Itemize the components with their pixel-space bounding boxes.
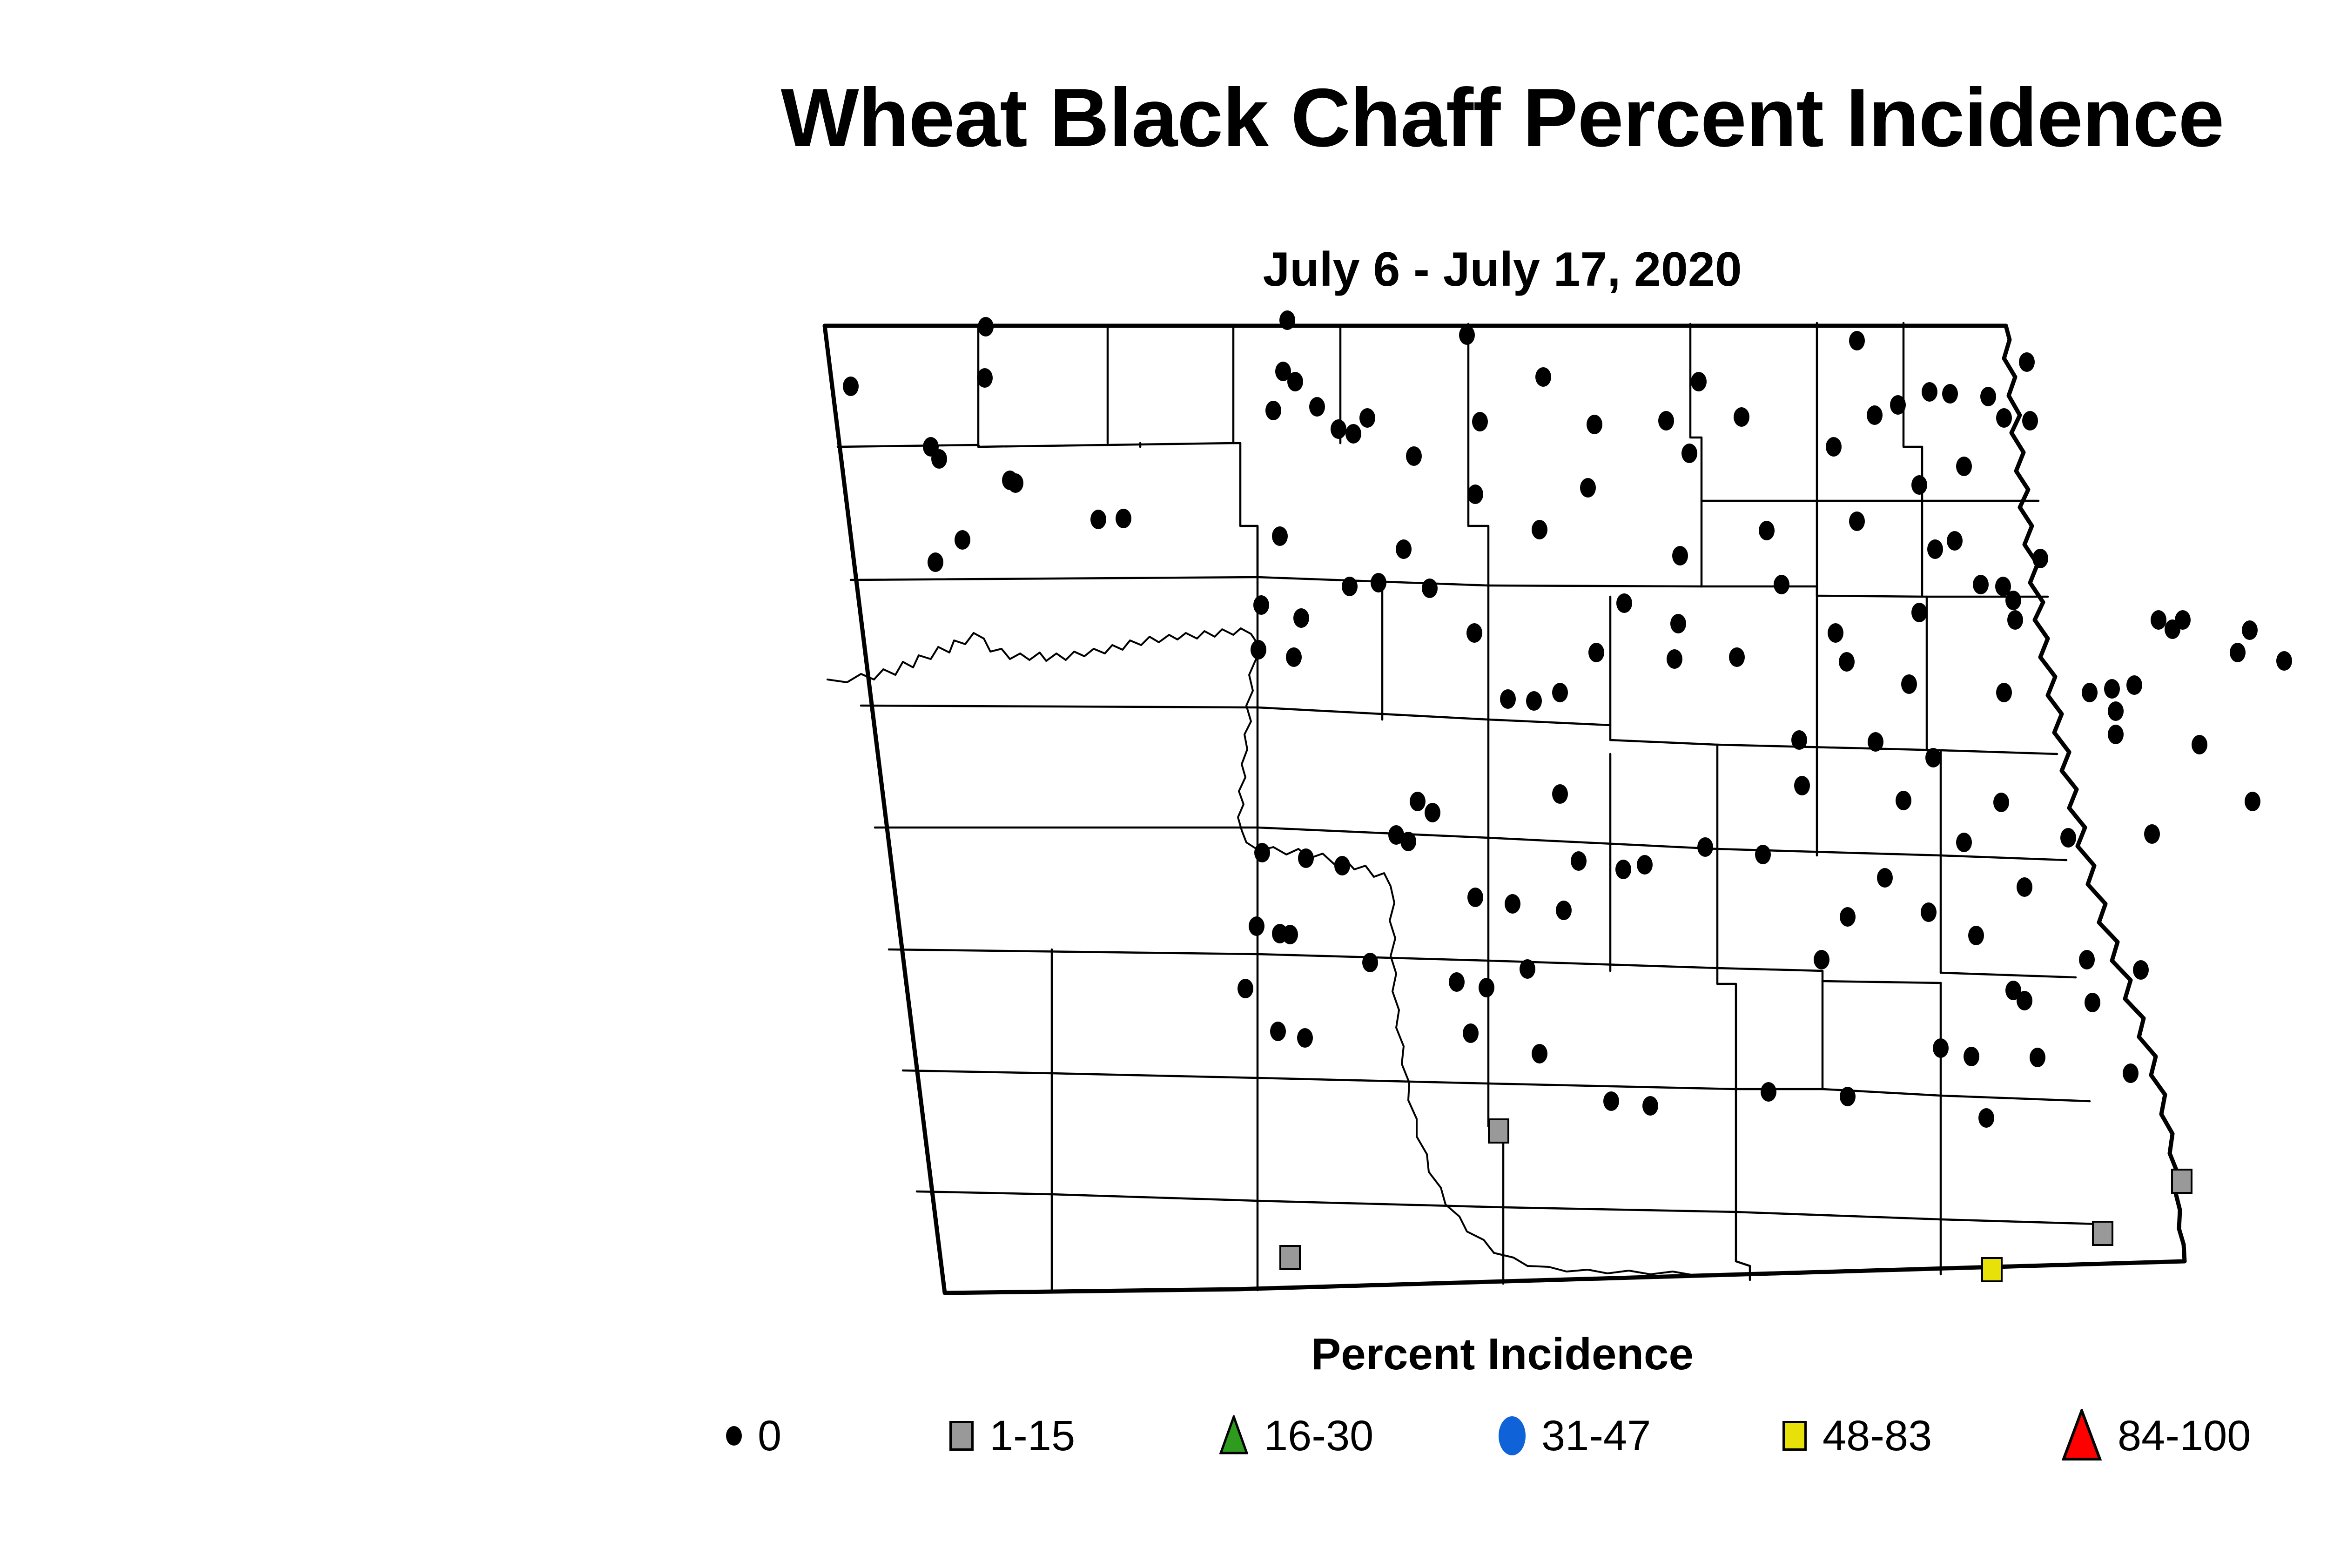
- map-marker: [1849, 331, 1865, 350]
- map-marker: [1251, 640, 1266, 660]
- map-svg: [661, 307, 2327, 1312]
- map-marker: [1755, 845, 1771, 864]
- map-marker: [2085, 993, 2100, 1012]
- missouri-river-and-lake-sakakawea: [827, 628, 1694, 1275]
- map-marker: [2082, 683, 2098, 702]
- map-marker: [2230, 643, 2246, 662]
- gray-square-icon: [949, 1421, 974, 1451]
- map-marker: [2017, 991, 2032, 1010]
- map-marker: [1532, 1044, 1547, 1063]
- map-marker: [1342, 577, 1358, 596]
- map-marker: [1466, 623, 1482, 643]
- map-marker: [1947, 531, 1963, 551]
- legend-label-5: 84-100: [2118, 1414, 2251, 1457]
- map-marker: [931, 449, 947, 469]
- map-marker: [1933, 1038, 1949, 1058]
- page-title: Wheat Black Chaff Percent Incidence: [0, 70, 2327, 165]
- map-marker: [2030, 1048, 2045, 1067]
- map-marker: [2060, 828, 2076, 848]
- map-marker: [1791, 730, 1807, 750]
- map-marker: [1282, 925, 1298, 944]
- map-marker: [1406, 446, 1422, 466]
- map-marker: [1982, 1258, 2002, 1281]
- map-marker: [1973, 575, 1989, 594]
- map-marker: [2276, 651, 2292, 671]
- map-marker: [1090, 510, 1106, 529]
- map-marker: [2079, 950, 2095, 969]
- map-marker: [1868, 732, 1883, 752]
- red-triangle-icon: [2062, 1409, 2102, 1463]
- map-marker: [1867, 405, 1883, 425]
- legend-label-1: 1-15: [989, 1414, 1075, 1457]
- map-marker: [1672, 546, 1688, 565]
- map-marker: [1840, 1087, 1856, 1106]
- map-marker: [1911, 603, 1927, 622]
- map-marker: [1890, 395, 1906, 415]
- map-marker: [1774, 575, 1789, 594]
- map-marker: [1642, 1096, 1658, 1116]
- map-marker: [1840, 907, 1856, 927]
- map-marker: [1116, 509, 1131, 528]
- map-marker: [2192, 735, 2207, 754]
- map-marker: [1472, 412, 1488, 431]
- legend-label-2: 16-30: [1264, 1414, 1373, 1457]
- map-marker: [1463, 1023, 1479, 1043]
- map-marker: [1839, 652, 1855, 672]
- map-marker: [1253, 595, 1269, 615]
- map-marker: [1535, 367, 1551, 387]
- map-marker: [1359, 408, 1375, 428]
- map-marker: [1921, 902, 1937, 922]
- map-marker: [2151, 610, 2166, 630]
- map-marker: [1691, 372, 1707, 391]
- map-marker: [1901, 674, 1917, 694]
- map-marker: [1658, 411, 1674, 431]
- map-marker: [1761, 1082, 1776, 1102]
- black-dot-icon: [726, 1426, 742, 1446]
- map-marker: [843, 377, 859, 396]
- county-boundaries: [838, 323, 2099, 1291]
- map-marker: [1942, 384, 1958, 404]
- map-marker: [2165, 619, 2180, 639]
- map-marker: [1922, 382, 1937, 402]
- map-marker: [1249, 916, 1264, 936]
- map-marker: [1272, 526, 1288, 546]
- legend-item-4[interactable]: 48-83: [1782, 1403, 1932, 1468]
- map-marker: [1410, 792, 1426, 811]
- blue-circle-icon: [1499, 1416, 1526, 1455]
- map-marker: [1603, 1091, 1619, 1111]
- map-marker: [1615, 860, 1631, 879]
- map-marker: [1505, 894, 1520, 914]
- map-marker: [2123, 1063, 2139, 1083]
- map-marker: [1371, 573, 1386, 592]
- legend-label-4: 48-83: [1823, 1414, 1932, 1457]
- legend-label-0: 0: [758, 1414, 781, 1457]
- map-marker: [1500, 689, 1516, 709]
- map-marker: [1298, 848, 1314, 868]
- map-marker: [1265, 401, 1281, 420]
- map-marker: [1362, 953, 1378, 972]
- map-marker: [978, 317, 994, 336]
- map-marker: [2005, 591, 2021, 610]
- map-marker: [2007, 610, 2023, 630]
- map-marker: [1964, 1047, 1979, 1066]
- map-marker: [1270, 1022, 1286, 1041]
- map-marker: [1734, 407, 1749, 427]
- map-marker: [1396, 539, 1412, 559]
- yellow-square-icon: [1782, 1421, 1807, 1451]
- map-marker: [1279, 310, 1295, 330]
- map-marker: [2104, 679, 2120, 699]
- map-marker: [1489, 1119, 1508, 1143]
- map-marker: [2093, 1222, 2112, 1245]
- map-marker: [1794, 776, 1810, 795]
- map-marker: [2245, 792, 2260, 811]
- map-marker: [1588, 643, 1604, 662]
- map-marker: [1526, 691, 1542, 711]
- map-marker: [1400, 832, 1416, 851]
- map-marker: [928, 552, 943, 572]
- map-marker: [1877, 868, 1893, 888]
- map-marker: [1334, 856, 1350, 875]
- map-marker: [1993, 793, 2009, 812]
- map-marker: [1520, 959, 1535, 979]
- map-marker: [2108, 701, 2124, 721]
- map-marker: [1331, 419, 1346, 439]
- map-marker: [1980, 387, 1996, 406]
- map-marker: [1667, 649, 1682, 669]
- map-marker: [1896, 791, 1911, 810]
- map-marker: [1293, 608, 1309, 628]
- map-marker: [955, 530, 970, 550]
- map-marker: [1697, 837, 1713, 857]
- map-marker: [1287, 372, 1303, 391]
- map-marker: [1814, 950, 1829, 969]
- map-marker: [1956, 833, 1972, 852]
- map-marker: [1254, 843, 1270, 862]
- map-marker: [1459, 325, 1475, 345]
- map-marker: [977, 368, 993, 388]
- map-marker: [1552, 784, 1568, 804]
- map-marker: [1968, 926, 1984, 945]
- map-marker: [1996, 408, 2012, 428]
- map-marker: [1479, 978, 1494, 997]
- legend: 0 1-15 16-30 31-47 48-83 84-100: [726, 1403, 2327, 1473]
- map-marker: [1996, 683, 2012, 702]
- map-marker: [2019, 352, 2035, 372]
- map-marker: [1759, 521, 1775, 540]
- map-marker: [1978, 1108, 1994, 1128]
- map-marker: [1670, 614, 1686, 633]
- map-marker: [1927, 539, 1943, 559]
- map-marker: [2032, 549, 2048, 568]
- page-subtitle: July 6 - July 17, 2020: [0, 242, 2327, 297]
- green-triangle-icon: [1219, 1415, 1248, 1457]
- map-marker: [1309, 397, 1325, 417]
- map-marker: [1826, 437, 1842, 457]
- map-marker: [1552, 683, 1568, 702]
- map-marker: [2133, 960, 2149, 980]
- map-marker: [1467, 485, 1483, 504]
- map-marker: [1571, 851, 1587, 871]
- map-marker: [2022, 411, 2038, 431]
- map-marker: [2108, 725, 2124, 744]
- legend-item-1[interactable]: 1-15: [949, 1403, 1075, 1468]
- map-marker: [1828, 623, 1843, 643]
- map-marker: [1616, 593, 1632, 613]
- map-marker: [1911, 475, 1927, 495]
- map-marker: [2126, 675, 2142, 695]
- map-marker: [2172, 1170, 2192, 1193]
- legend-item-0[interactable]: 0: [726, 1403, 781, 1468]
- state-outline: [825, 326, 2185, 1293]
- map-marker: [1925, 748, 1941, 767]
- map-marker: [2242, 620, 2258, 640]
- map-marker: [2144, 824, 2160, 844]
- map-marker: [1587, 415, 1602, 434]
- map-marker: [1008, 473, 1023, 493]
- map-marker: [1345, 424, 1361, 444]
- map-marker: [1280, 1246, 1300, 1269]
- map-marker: [1556, 901, 1572, 920]
- north-dakota-map[interactable]: [661, 307, 2327, 1312]
- map-marker: [1956, 457, 1972, 476]
- legend-item-5[interactable]: 84-100: [2062, 1403, 2251, 1468]
- legend-title: Percent Incidence: [0, 1329, 2327, 1380]
- map-marker: [1729, 647, 1745, 667]
- map-marker: [1297, 1028, 1313, 1048]
- map-marker: [1532, 520, 1547, 539]
- map-marker: [1580, 478, 1596, 498]
- map-marker: [1849, 511, 1865, 531]
- map-marker: [1637, 855, 1653, 875]
- legend-label-3: 31-47: [1541, 1414, 1651, 1457]
- map-marker: [1422, 579, 1438, 598]
- map-marker: [1237, 979, 1253, 998]
- legend-item-3[interactable]: 31-47: [1499, 1403, 1651, 1468]
- map-marker: [1425, 803, 1440, 822]
- map-marker: [1286, 647, 1302, 667]
- legend-item-2[interactable]: 16-30: [1219, 1403, 1373, 1468]
- map-marker: [1467, 888, 1483, 907]
- map-page: Wheat Black Chaff Percent Incidence July…: [0, 0, 2327, 1568]
- map-marker: [2017, 877, 2032, 897]
- map-marker: [1449, 972, 1465, 992]
- map-marker: [1681, 444, 1697, 463]
